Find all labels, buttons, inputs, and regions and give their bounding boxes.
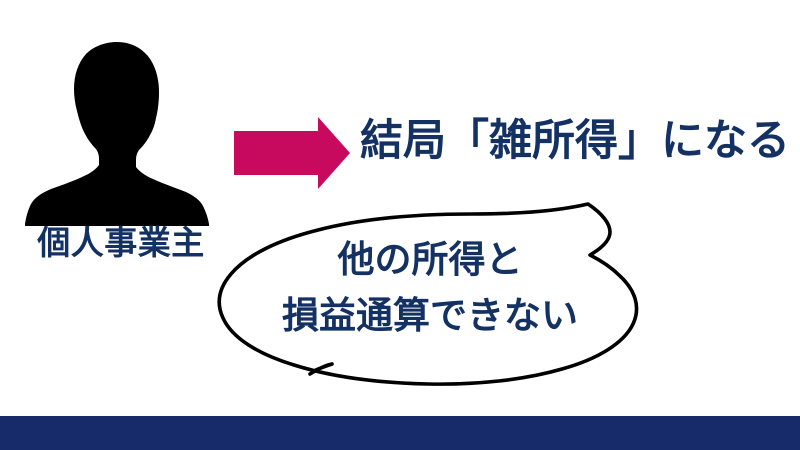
person-caption-label: 個人事業主 <box>26 226 216 261</box>
speech-bubble-shape <box>214 192 650 390</box>
footer-bar <box>0 416 800 450</box>
person-silhouette-icon <box>12 38 222 226</box>
headline-text: 結局「雑所得」になる <box>360 118 790 165</box>
slide-canvas: 個人事業主 結局「雑所得」になる 他の所得と 損益通算できない <box>0 0 800 450</box>
right-arrow-icon <box>232 116 352 190</box>
